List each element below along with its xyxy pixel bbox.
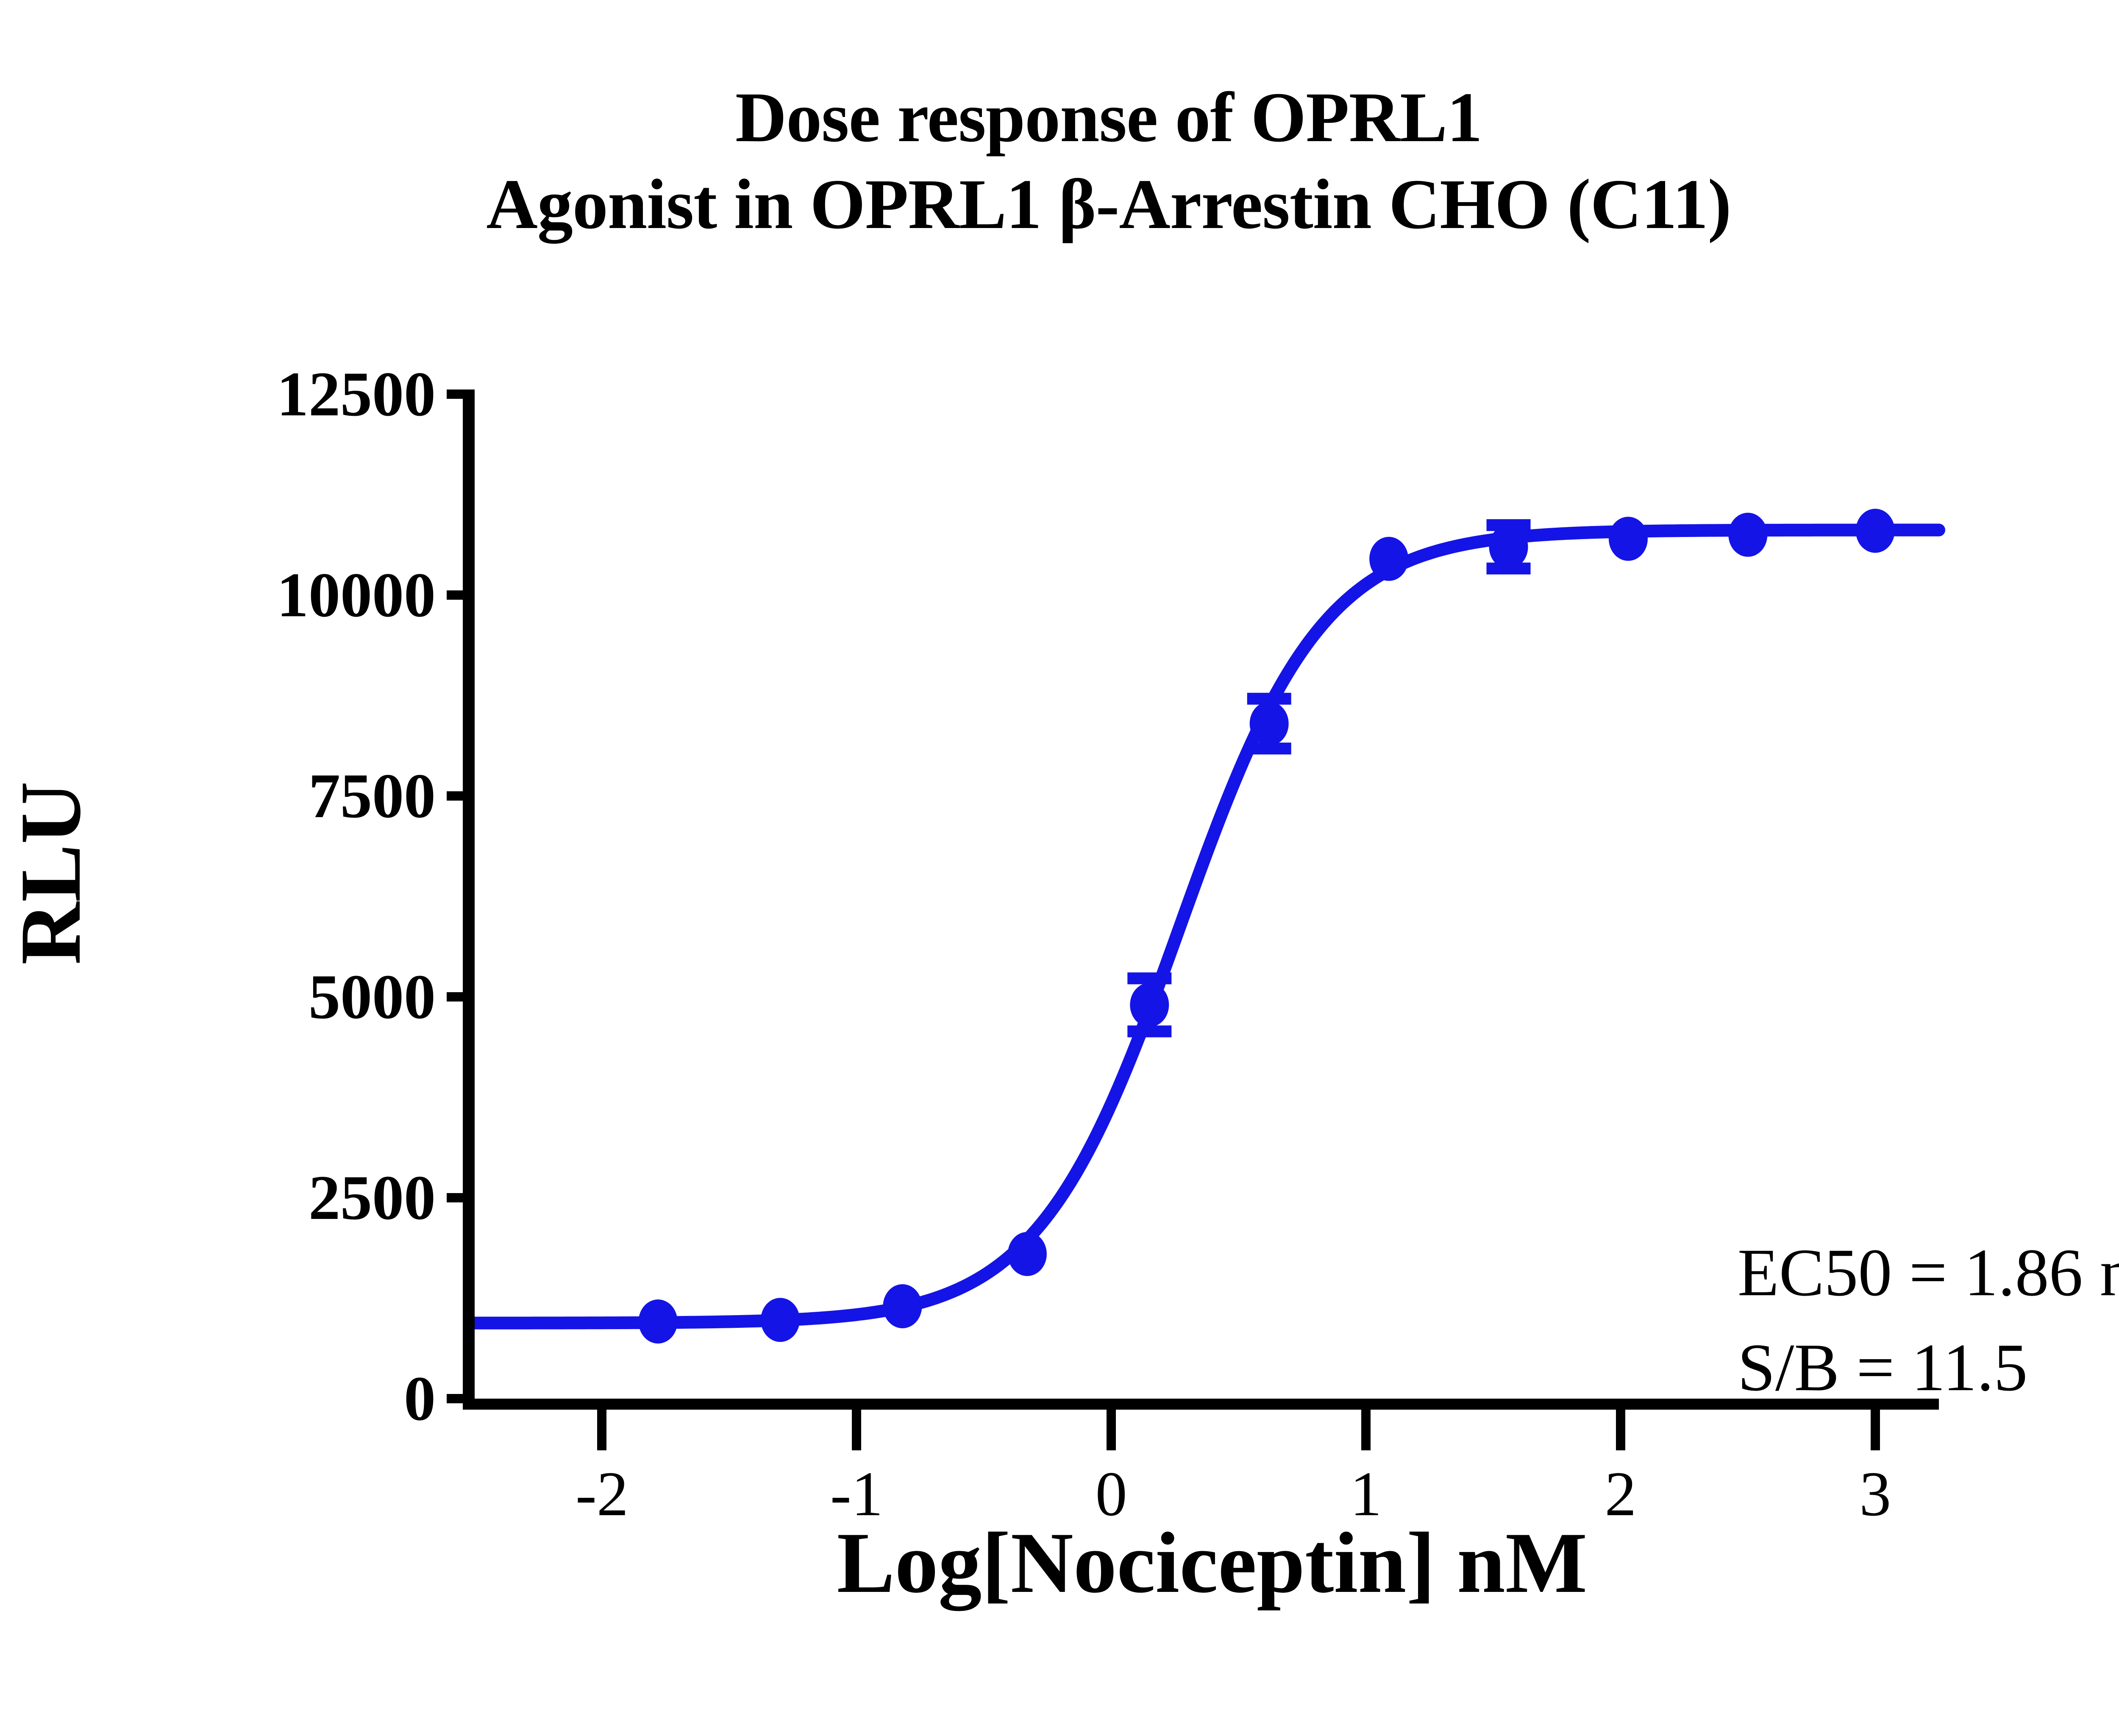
plot-area: 02500500075001000012500 -2-10123 EC50 = …	[475, 394, 1939, 1399]
chart-title-line-1: Dose response of OPRL1	[0, 74, 2119, 161]
data-point	[639, 1299, 678, 1344]
chart-figure: Dose response of OPRL1 Agonist in OPRL1 …	[0, 0, 2119, 1736]
data-point	[1130, 983, 1169, 1027]
x-axis-title: Log[Nociceptin] nM	[837, 1513, 1588, 1613]
y-tick	[447, 1193, 475, 1202]
y-tick-label: 0	[404, 1367, 436, 1430]
data-point	[1250, 701, 1289, 746]
chart-title: Dose response of OPRL1 Agonist in OPRL1 …	[0, 74, 2119, 248]
y-tick	[447, 389, 475, 399]
y-tick	[447, 791, 475, 801]
ec50-annotation: EC50 = 1.86 nM	[1738, 1225, 2119, 1320]
y-tick-label: 12500	[277, 362, 436, 426]
x-tick-label: 2	[1605, 1462, 1636, 1526]
fit-annotations: EC50 = 1.86 nM S/B = 11.5	[1738, 1225, 2119, 1415]
x-tick	[1616, 1410, 1625, 1450]
data-point	[1008, 1232, 1047, 1276]
chart-title-line-2: Agonist in OPRL1 β-Arrestin CHO (C11)	[0, 161, 2119, 248]
y-tick-label: 5000	[309, 965, 436, 1029]
y-tick	[447, 590, 475, 600]
fit-curve	[475, 530, 1939, 1323]
data-point	[883, 1284, 922, 1328]
x-tick-label: 3	[1859, 1462, 1891, 1526]
y-axis-title: RLU	[1, 782, 101, 965]
x-tick	[852, 1410, 861, 1450]
x-tick-label: -1	[830, 1462, 883, 1526]
data-point	[761, 1298, 800, 1342]
x-tick-label: -2	[576, 1462, 628, 1526]
y-tick-label: 7500	[309, 764, 436, 828]
x-tick	[1107, 1410, 1116, 1450]
data-point	[1728, 513, 1767, 557]
data-point	[1369, 537, 1408, 581]
y-tick-label: 2500	[309, 1166, 436, 1230]
data-point	[1489, 525, 1528, 569]
y-tick-label: 10000	[277, 563, 436, 627]
y-tick	[447, 1394, 475, 1403]
data-point	[1609, 517, 1648, 561]
y-tick	[447, 992, 475, 1002]
x-tick	[597, 1410, 606, 1450]
data-point	[1856, 509, 1895, 553]
x-tick-label: 1	[1350, 1462, 1382, 1526]
x-tick	[1361, 1410, 1371, 1450]
x-tick-label: 0	[1096, 1462, 1127, 1526]
data-series-layer	[475, 394, 1939, 1399]
y-axis-line	[463, 390, 475, 1403]
x-tick	[1871, 1410, 1880, 1450]
sb-annotation: S/B = 11.5	[1738, 1320, 2119, 1415]
x-axis-line	[463, 1399, 1939, 1410]
